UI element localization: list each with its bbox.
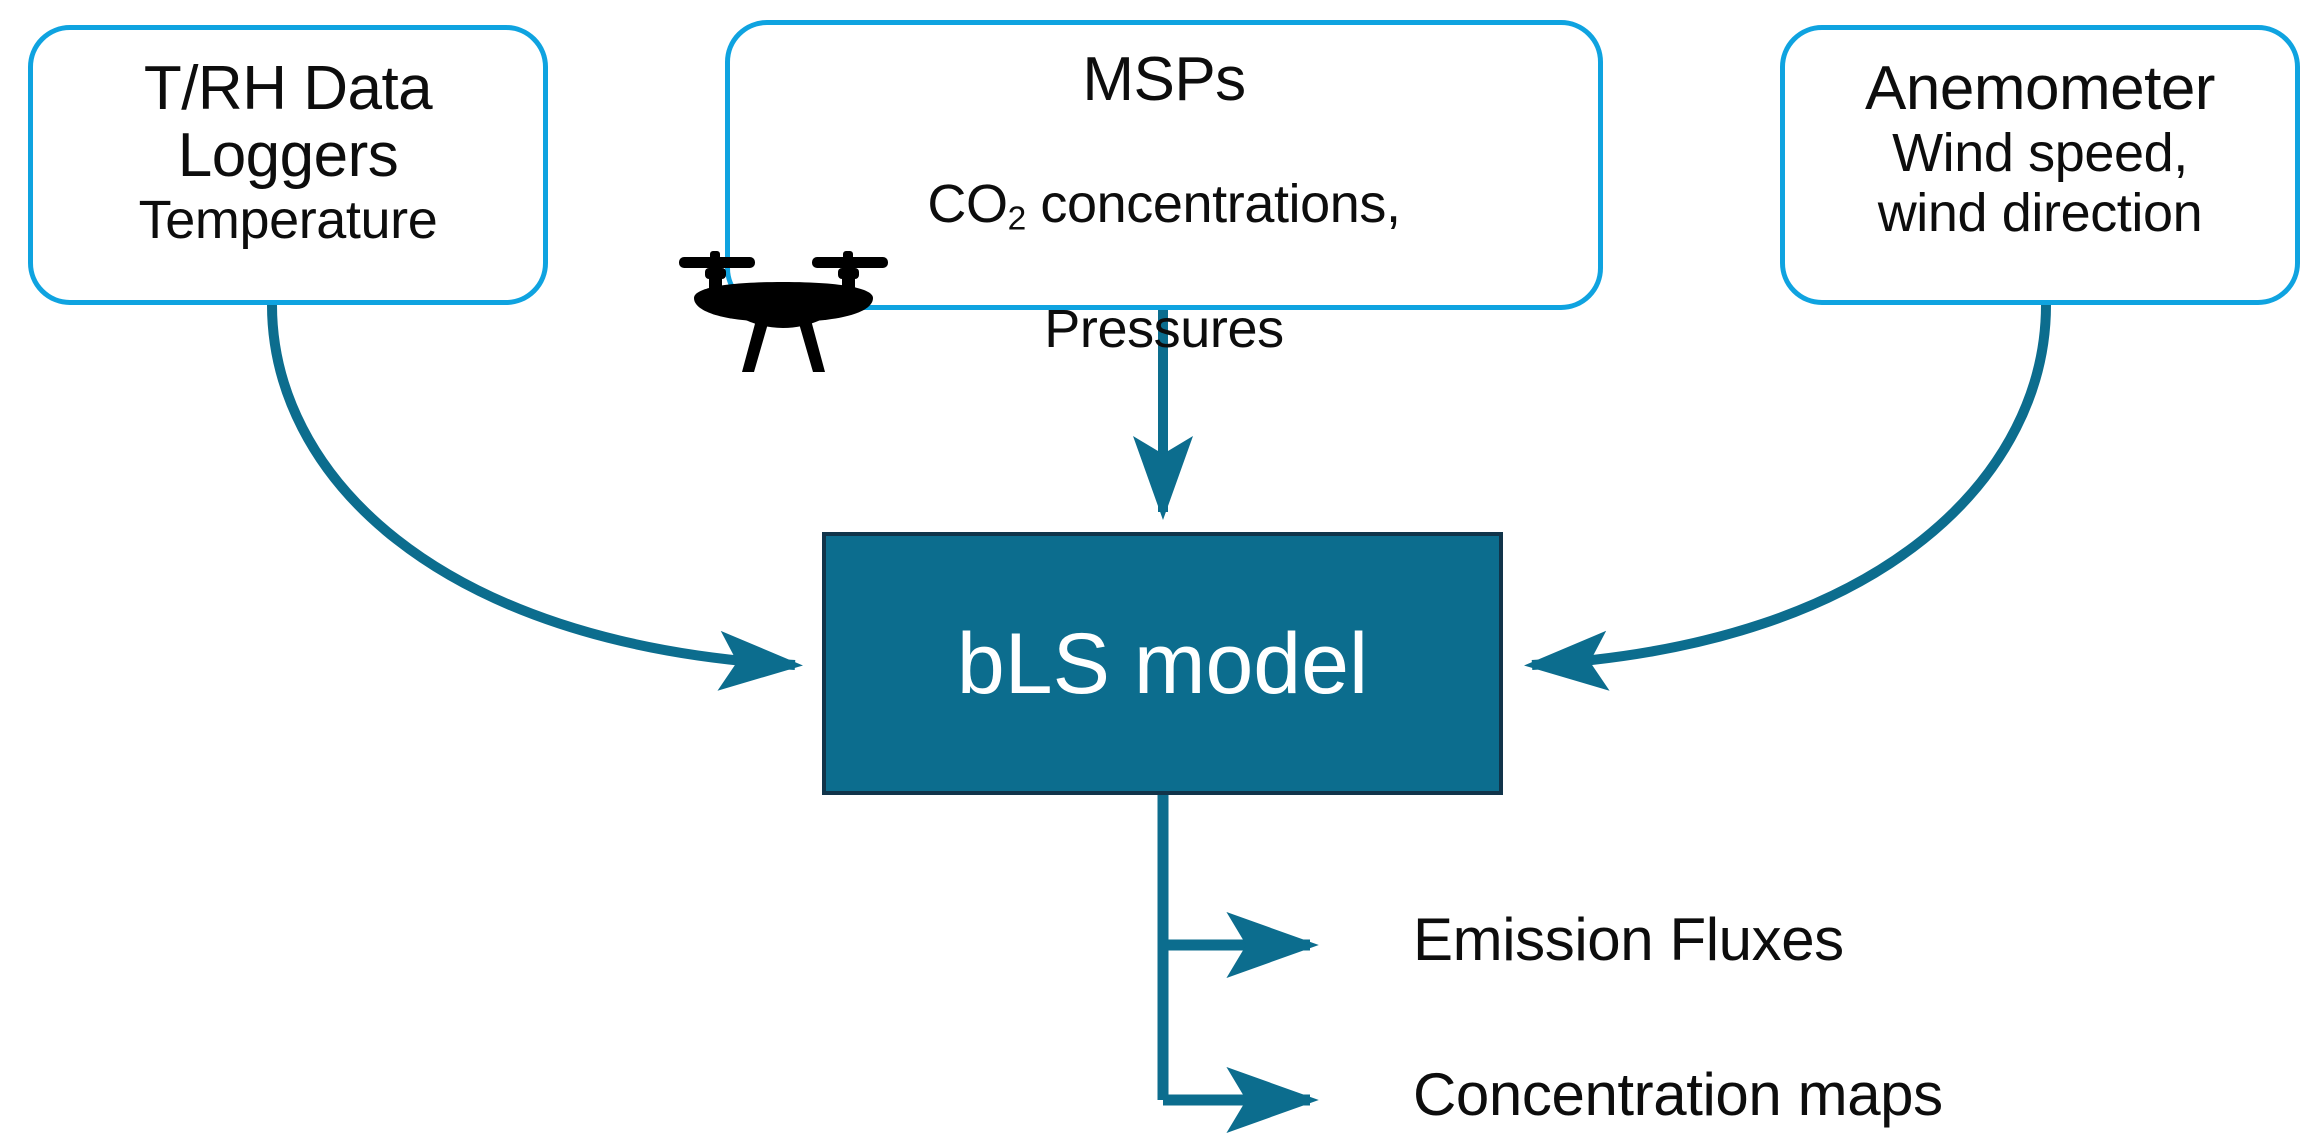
input-box-title: Anemometer — [1865, 56, 2215, 123]
co2-formula-suffix: concentrations, — [1026, 174, 1401, 234]
bls-model-label: bLS model — [957, 621, 1368, 707]
drone-icon — [676, 240, 891, 375]
input-box-title: MSPs — [1082, 47, 1245, 114]
input-box-subtitle: Wind speed, wind direction — [1878, 123, 2203, 244]
flow-diagram: T/RH Data Loggers Temperature MSPs CO2 c… — [0, 0, 2323, 1140]
co2-formula-subscript: 2 — [1008, 201, 1026, 238]
output-label-concentration-maps: Concentration maps — [1413, 1060, 1943, 1129]
co2-formula-prefix: CO — [927, 174, 1007, 234]
input-box-subtitle: Temperature — [139, 190, 438, 250]
bls-model-box[interactable]: bLS model — [822, 532, 1503, 795]
connector-anemometer-to-model — [1532, 305, 2046, 665]
input-box-subtitle-line2: Pressures — [1044, 299, 1283, 359]
input-box-subtitle: CO2 concentrations, Pressures — [927, 114, 1400, 359]
input-box-title: T/RH Data Loggers — [144, 56, 432, 190]
input-box-anemometer[interactable]: Anemometer Wind speed, wind direction — [1780, 25, 2300, 305]
output-label-emission-fluxes: Emission Fluxes — [1413, 905, 1844, 974]
input-box-trh-data-loggers[interactable]: T/RH Data Loggers Temperature — [28, 25, 548, 305]
